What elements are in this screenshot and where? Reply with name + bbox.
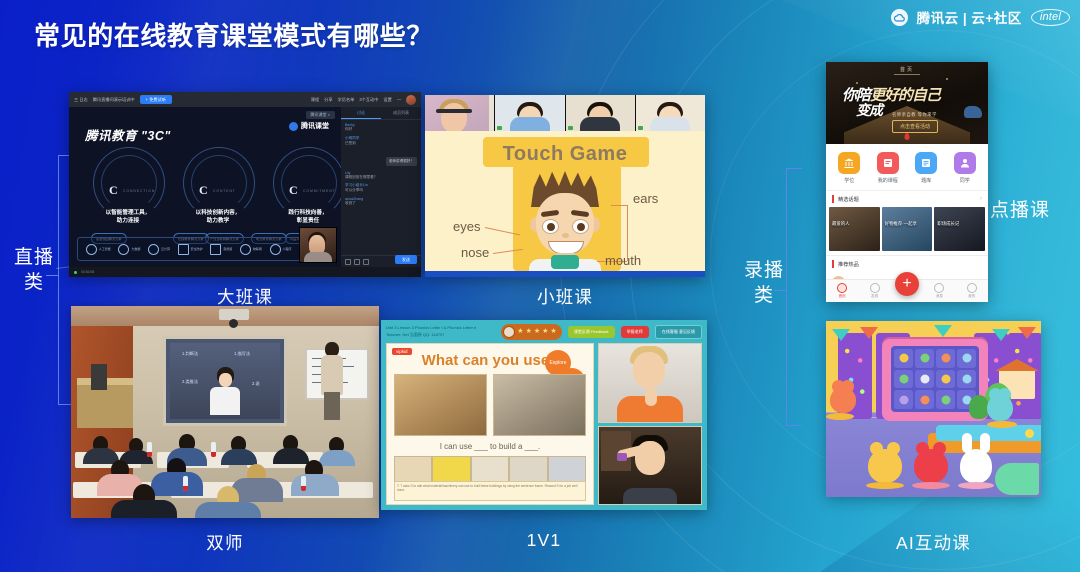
onsite-teacher <box>321 342 343 420</box>
grid-cell[interactable] <box>894 349 913 368</box>
lesson-teacher: Teacher: Net 当面授 QQ: 118797 <box>386 332 476 338</box>
banner-headline-2: 变成 <box>856 100 882 120</box>
classroom-footer: 00:52:08 <box>69 267 421 277</box>
support-button[interactable]: 在线客服 意见反馈 <box>655 325 702 339</box>
nav-item-classmates[interactable]: 同学 <box>950 152 980 184</box>
pet-orange[interactable] <box>830 387 856 413</box>
topbar-settings[interactable]: 设置 <box>383 97 391 103</box>
slide-column-3: C C O M M I T M E N T 践行科技向善， 彰显责任 <box>265 147 341 225</box>
slide-stage: 腾讯课堂 × 腾讯教育 "3C" 腾讯课堂 C C O N N E C T I … <box>69 107 341 267</box>
person-icon <box>954 152 976 174</box>
grid-cell[interactable] <box>915 349 934 368</box>
label-mouth: mouth <box>605 253 641 268</box>
cap-cloud: 云计算 <box>161 247 170 251</box>
grid-cell[interactable] <box>894 390 913 409</box>
grid-cell[interactable] <box>936 370 955 389</box>
caption-ai-interactive: AI互动课 <box>826 530 1041 555</box>
elapsed-time: 00:52:08 <box>81 270 94 274</box>
cap-security: 安全防护 <box>191 247 203 251</box>
page-title: 常见的在线教育课堂模式有哪些？ <box>34 16 433 53</box>
star-rating: ★★★★★ <box>501 324 561 340</box>
pet-teal[interactable] <box>987 395 1013 421</box>
app-quick-nav: 学位 我的课程 题库 同学 <box>826 144 988 190</box>
chat-message: Lily 课程回放在哪里看？ <box>345 171 417 180</box>
book-icon <box>877 152 899 174</box>
character-yellow-bear[interactable] <box>868 449 902 483</box>
tab-discussion[interactable]: 讨论 <box>341 107 381 119</box>
lesson-title: Unit 3 Lesson 3 Phonics Letter i & Phoni… <box>386 325 476 330</box>
nav-item-my-courses[interactable]: 我的课程 <box>873 152 903 184</box>
section-header-topics: 精选话题 › <box>826 190 988 207</box>
cartoon-boy <box>517 171 613 271</box>
screenshot-dual-teacher[interactable]: 1.判断法 1.描写法 2.类推法 2.说 <box>71 306 379 518</box>
student-camera[interactable] <box>598 426 702 506</box>
toy-slide <box>995 463 1039 495</box>
topbar-title: 腾讯直播间演示培训中 <box>93 97 135 103</box>
sidebar-tabs[interactable]: 讨论 成员列表 <box>341 107 421 120</box>
more-icon[interactable] <box>363 259 369 265</box>
tencent-ketang-logo: 腾讯课堂 <box>289 121 329 131</box>
teacher-camera[interactable] <box>598 343 702 423</box>
photo-framing <box>394 374 487 436</box>
tab-members[interactable]: 成员列表 <box>381 107 421 119</box>
add-post-fab[interactable]: + <box>895 272 919 296</box>
speaker <box>91 364 107 390</box>
topic-card[interactable]: 好物推荐·一起享 <box>882 207 933 251</box>
category-label-recorded: 录播 类 <box>738 258 790 308</box>
screenshot-small-class[interactable]: Touch Game eyes nose mouth ears <box>425 95 705 277</box>
tab-mine[interactable]: 我的 <box>959 283 985 299</box>
list-icon <box>915 152 937 174</box>
brand-text: 腾讯云 | 云+社区 <box>917 7 1022 27</box>
label-nose: nose <box>461 245 489 260</box>
chat-message-self: 老师讲得很好！ <box>345 149 417 167</box>
game-grid[interactable] <box>891 346 979 412</box>
banner-cta-button[interactable]: 点击查看活动 <box>892 120 938 133</box>
grid-cell[interactable] <box>936 349 955 368</box>
cap-media: 音视频 <box>223 247 232 251</box>
screenshot-one-to-one[interactable]: Unit 3 Lesson 3 Phonics Letter i & Phoni… <box>381 320 707 510</box>
participant-tile[interactable] <box>636 95 705 131</box>
lesson-photos <box>394 374 586 436</box>
caption-dual-teacher: 双师 <box>71 530 379 555</box>
topbar-courses[interactable]: 课程 <box>311 97 319 103</box>
banner-sub: 名师亲自教 等你来学 <box>892 112 937 118</box>
category-label-live: 直播 类 <box>8 245 60 295</box>
tencent-cloud-logo-icon <box>891 9 908 26</box>
tab-discover[interactable]: 发现 <box>862 283 888 299</box>
caption-small-class: 小班课 <box>425 284 705 309</box>
video-panel <box>598 343 702 505</box>
slide-column-1: C C O N N E C T I O N 以智能管理工具， 助力连接 <box>85 147 171 225</box>
topic-card[interactable]: 职场成长记 <box>934 207 985 251</box>
tab-home[interactable]: 首页 <box>829 283 855 299</box>
tab-messages[interactable]: 消息 <box>926 283 952 299</box>
emoji-icon[interactable] <box>345 259 351 265</box>
grid-cell[interactable] <box>915 370 934 389</box>
ceiling-camera <box>229 319 238 328</box>
grid-cell[interactable] <box>936 390 955 409</box>
recording-indicator-icon <box>74 271 77 274</box>
sentence-frame: I can use ___ to build a ___. <box>387 442 593 451</box>
lesson-slide: vipkid What can you use? Explore Explore… <box>386 343 594 505</box>
touch-game-slide: Touch Game eyes nose mouth ears <box>425 131 705 271</box>
topic-card-list: 最爱的人 好物推荐·一起享 职场成长记 <box>826 207 988 255</box>
category-label-vod: 点播课 <box>990 198 1070 223</box>
free-trial-button[interactable]: + 免费试听 <box>140 95 172 104</box>
slide-canvas: 腾讯云 | 云+社区 intel 常见的在线教育课堂模式有哪些？ 直播 类 录播… <box>0 0 1080 572</box>
teacher-note: T: T asks S to talk what material/machin… <box>394 481 586 501</box>
screenshot-vod-app[interactable]: 首页 你陪更好的自己 变成 名师亲自教 等你来学 点击查看活动 学位 <box>826 62 988 302</box>
topbar-minimize[interactable]: — <box>397 97 401 102</box>
chat-send-button[interactable]: 发送 <box>395 255 417 264</box>
brand-bar: 腾讯云 | 云+社区 intel <box>891 4 1070 30</box>
photo-house <box>493 374 586 436</box>
cap-miniprogram: 小程序 <box>283 247 292 251</box>
projection-screen: 1.判断法 1.描写法 2.类推法 2.说 <box>163 336 287 426</box>
screenshot-ai-interactive[interactable] <box>826 321 1041 497</box>
presenter-webcam[interactable] <box>299 227 337 263</box>
report-teacher-button[interactable]: 举报老师 <box>621 326 649 338</box>
slide-capability-bar: 人工智能 大数据 云计算 安全防护 音视频 物联网 小程序 移动开发 <box>77 237 333 261</box>
participant-tile[interactable] <box>566 95 635 131</box>
participant-tile[interactable] <box>495 95 564 131</box>
nav-item-question-bank[interactable]: 题库 <box>911 152 941 184</box>
chat-message: annaZhang 收到了 <box>345 197 417 206</box>
grid-cell[interactable] <box>894 370 913 389</box>
screenshot-large-class[interactable]: 三 日志 腾讯直播间演示培训中 + 免费试听 课程 分享 学员名单 3个互动中 … <box>69 92 421 277</box>
product-shoe-image <box>964 106 982 118</box>
topic-card[interactable]: 最爱的人 <box>829 207 880 251</box>
grid-cell[interactable] <box>915 390 934 409</box>
chat-message: Becky 你好 <box>345 123 417 132</box>
intel-logo: intel <box>1031 9 1070 26</box>
image-icon[interactable] <box>354 259 360 265</box>
app-banner[interactable]: 首页 你陪更好的自己 变成 名师亲自教 等你来学 点击查看活动 <box>826 62 988 144</box>
grid-cell[interactable] <box>957 370 976 389</box>
student-seating <box>71 434 379 518</box>
slide-tag: 腾讯课堂 × <box>306 111 335 119</box>
topbar-share[interactable]: 分享 <box>324 97 332 103</box>
topbar-interacting[interactable]: 3个互动中 <box>359 97 378 103</box>
character-red-bear[interactable] <box>914 449 948 483</box>
slide-title: 腾讯教育 "3C" <box>85 125 171 144</box>
touch-game-title: Touch Game <box>425 143 705 166</box>
chat-message: 学习小组长Lin 可以分享吗 <box>345 183 417 193</box>
user-avatar[interactable] <box>406 95 416 105</box>
cap-iot: 物联网 <box>253 247 262 251</box>
section-header-recommend: 推荐热品 <box>826 255 988 272</box>
chevron-right-icon[interactable]: › <box>980 196 982 202</box>
banner-top-word: 首页 <box>826 66 988 73</box>
feedback-button[interactable]: 课堂反馈 Feedback <box>568 326 615 338</box>
classroom-sidebar: 讨论 成员列表 Becky 你好 小明同学 已签到 老师讲得很 <box>341 107 421 267</box>
avatar <box>503 326 515 338</box>
remote-teacher-video <box>210 367 240 415</box>
classroom-topbar: 三 日志 腾讯直播间演示培训中 + 免费试听 课程 分享 学员名单 3个互动中 … <box>69 92 421 107</box>
grid-cell[interactable] <box>957 349 976 368</box>
character-white-rabbit[interactable] <box>960 449 992 483</box>
label-eyes: eyes <box>453 219 480 234</box>
toy-plant <box>969 395 989 419</box>
lesson-header: Unit 3 Lesson 3 Phonics Letter i & Phoni… <box>381 320 707 343</box>
slide-column-2: C C O N T E N T 以科技创新内容， 助力教学 <box>175 147 261 225</box>
chat-list[interactable]: Becky 你好 小明同学 已签到 老师讲得很好！ Lily 课程回放在哪里 <box>341 120 421 255</box>
bank-icon <box>838 152 860 174</box>
topbar-roster[interactable]: 学员名单 <box>338 97 355 103</box>
cap-bigdata: 大数据 <box>131 247 140 251</box>
caption-one-to-one: 1V1 <box>381 530 707 551</box>
nav-item-degree[interactable]: 学位 <box>834 152 864 184</box>
slide-footer-bar <box>425 271 705 277</box>
chat-message: 小明同学 已签到 <box>345 136 417 146</box>
label-ears: ears <box>633 191 658 206</box>
cap-ai: 人工智能 <box>99 247 111 251</box>
map-pin-icon <box>905 133 910 140</box>
topbar-menu[interactable]: 三 日志 <box>74 97 88 103</box>
